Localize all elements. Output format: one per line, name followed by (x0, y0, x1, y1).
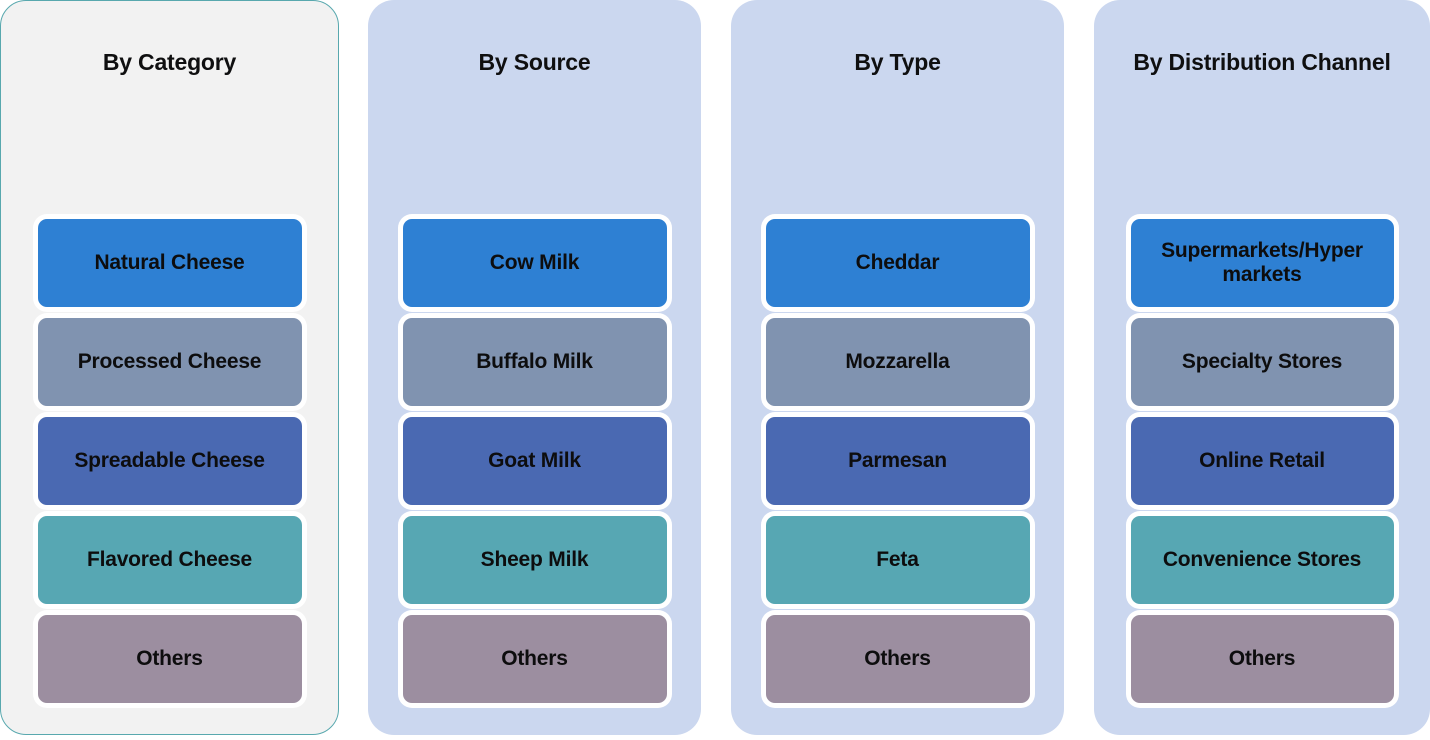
segment-item[interactable]: Others (761, 610, 1035, 708)
segment-item-label: Others (1131, 615, 1394, 703)
segment-column: By SourceCow MilkBuffalo MilkGoat MilkSh… (368, 0, 701, 735)
column-item-list: Supermarkets/Hyper marketsSpecialty Stor… (1095, 124, 1429, 709)
segment-item-label: Cow Milk (403, 219, 667, 307)
segment-item-label: Cheddar (766, 219, 1030, 307)
segment-item[interactable]: Mozzarella (761, 313, 1035, 411)
segment-item[interactable]: Online Retail (1126, 412, 1399, 510)
segment-item-label: Parmesan (766, 417, 1030, 505)
segment-item[interactable]: Cow Milk (398, 214, 672, 312)
segment-item-label: Supermarkets/Hyper markets (1131, 219, 1394, 307)
segment-item[interactable]: Spreadable Cheese (33, 412, 307, 510)
column-title: By Distribution Channel (1095, 1, 1429, 124)
segment-item-label: Flavored Cheese (38, 516, 302, 604)
segment-item-label: Sheep Milk (403, 516, 667, 604)
column-title: By Source (369, 1, 700, 124)
segment-item-label: Feta (766, 516, 1030, 604)
segment-item-label: Processed Cheese (38, 318, 302, 406)
segment-item-label: Goat Milk (403, 417, 667, 505)
segment-item[interactable]: Others (33, 610, 307, 708)
segmentation-diagram: By CategoryNatural CheeseProcessed Chees… (0, 0, 1430, 740)
segment-column: By Distribution ChannelSupermarkets/Hype… (1094, 0, 1430, 735)
segment-item[interactable]: Convenience Stores (1126, 511, 1399, 609)
segment-item-label: Others (403, 615, 667, 703)
column-item-list: Cow MilkBuffalo MilkGoat MilkSheep MilkO… (369, 124, 700, 709)
segment-item-label: Spreadable Cheese (38, 417, 302, 505)
segment-column: By CategoryNatural CheeseProcessed Chees… (0, 0, 339, 735)
segment-item-label: Others (766, 615, 1030, 703)
segment-item-label: Natural Cheese (38, 219, 302, 307)
segment-item[interactable]: Parmesan (761, 412, 1035, 510)
segment-item[interactable]: Natural Cheese (33, 214, 307, 312)
segment-item[interactable]: Sheep Milk (398, 511, 672, 609)
segment-item-label: Specialty Stores (1131, 318, 1394, 406)
segment-item[interactable]: Specialty Stores (1126, 313, 1399, 411)
segment-item[interactable]: Goat Milk (398, 412, 672, 510)
segment-item-label: Convenience Stores (1131, 516, 1394, 604)
segment-item-label: Mozzarella (766, 318, 1030, 406)
column-title: By Type (732, 1, 1063, 124)
segment-item-label: Online Retail (1131, 417, 1394, 505)
segment-item[interactable]: Flavored Cheese (33, 511, 307, 609)
segment-item[interactable]: Others (398, 610, 672, 708)
segment-item[interactable]: Buffalo Milk (398, 313, 672, 411)
column-item-list: CheddarMozzarellaParmesanFetaOthers (732, 124, 1063, 709)
column-item-list: Natural CheeseProcessed CheeseSpreadable… (1, 124, 338, 709)
segment-item[interactable]: Cheddar (761, 214, 1035, 312)
column-title: By Category (1, 1, 338, 124)
segment-item[interactable]: Supermarkets/Hyper markets (1126, 214, 1399, 312)
segment-column: By TypeCheddarMozzarellaParmesanFetaOthe… (731, 0, 1064, 735)
segment-item[interactable]: Feta (761, 511, 1035, 609)
segment-item[interactable]: Others (1126, 610, 1399, 708)
segment-item-label: Buffalo Milk (403, 318, 667, 406)
segment-item-label: Others (38, 615, 302, 703)
segment-item[interactable]: Processed Cheese (33, 313, 307, 411)
